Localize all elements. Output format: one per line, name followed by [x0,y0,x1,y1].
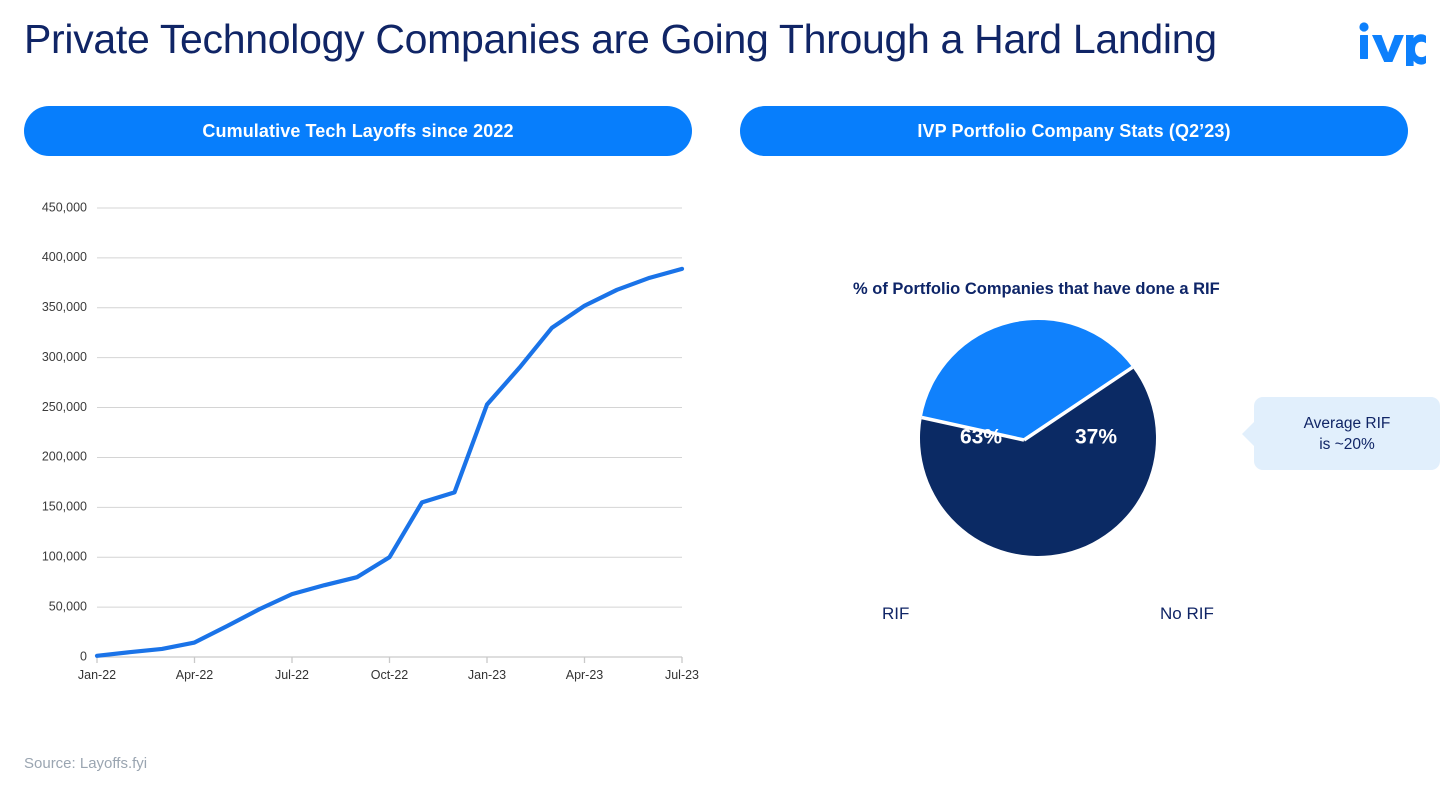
callout-arrow-icon [1242,421,1255,447]
pie-slice-rif-value: 63% [960,426,1002,449]
y-axis-tick-label: 250,000 [42,400,87,414]
x-axis-tick-label: Jul-22 [275,668,309,682]
layoffs-series-line [97,269,682,656]
y-axis-tick-label: 0 [80,649,87,663]
ivp-logo [1356,18,1426,66]
y-axis-tick-label: 450,000 [42,200,87,214]
x-axis-tick-label: Oct-22 [371,668,409,682]
x-axis-tick-label: Apr-22 [176,668,214,682]
pie-label-no-rif: No RIF [1160,604,1214,624]
pie-label-rif: RIF [882,604,909,624]
section-pill-cumulative-tech-layoffs[interactable]: Cumulative Tech Layoffs since 2022 [24,106,692,156]
average-rif-callout: Average RIF is ~20% [1254,397,1440,470]
source-note: Source: Layoffs.fyi [24,755,147,772]
chart-x-axis-ticks [97,657,682,663]
line-chart-panel: 050,000100,000150,000200,000250,000300,0… [0,180,720,700]
pie-chart-subtitle: % of Portfolio Companies that have done … [853,280,1220,299]
x-axis-tick-label: Jan-22 [78,668,116,682]
y-axis-tick-label: 150,000 [42,500,87,514]
callout-line-1: Average RIF [1304,415,1391,432]
page-title: Private Technology Companies are Going T… [24,14,1217,64]
section-pill-ivp-portfolio-stats[interactable]: IVP Portfolio Company Stats (Q2’23) [740,106,1408,156]
y-axis-tick-label: 200,000 [42,450,87,464]
pie-chart-panel: % of Portfolio Companies that have done … [740,180,1456,700]
chart-gridlines [97,208,682,657]
y-axis-tick-label: 350,000 [42,300,87,314]
callout-text: Average RIF is ~20% [1304,413,1391,455]
section-pill-right-label: IVP Portfolio Company Stats (Q2’23) [917,121,1230,142]
callout-line-2: is ~20% [1319,436,1375,453]
section-pill-left-label: Cumulative Tech Layoffs since 2022 [202,121,513,142]
y-axis-tick-label: 100,000 [42,550,87,564]
y-axis-tick-label: 50,000 [49,599,87,613]
chart-y-axis-labels: 050,000100,000150,000200,000250,000300,0… [42,200,87,663]
pie-slice-no-rif-value: 37% [1075,426,1117,449]
x-axis-tick-label: Jan-23 [468,668,506,682]
x-axis-tick-label: Jul-23 [665,668,699,682]
chart-x-axis-labels: Jan-22Apr-22Jul-22Oct-22Jan-23Apr-23Jul-… [78,668,699,682]
y-axis-tick-label: 400,000 [42,250,87,264]
y-axis-tick-label: 300,000 [42,350,87,364]
rif-pie-chart: 63%37% [918,318,1158,558]
x-axis-tick-label: Apr-23 [566,668,604,682]
